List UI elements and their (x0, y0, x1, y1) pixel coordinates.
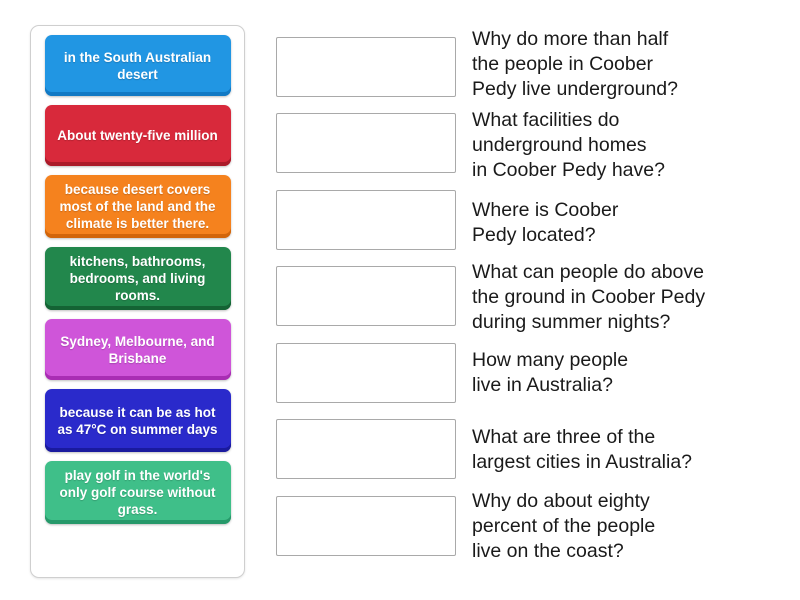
answer-tile[interactable]: in the South Australian desert (45, 35, 231, 96)
drop-zone[interactable] (276, 113, 456, 173)
drop-zone[interactable] (276, 37, 456, 97)
question-text: How many people live in Australia? (472, 348, 794, 398)
answer-tile[interactable]: kitchens, bathrooms, bedrooms, and livin… (45, 247, 231, 310)
question-text: What facilities do underground homes in … (472, 108, 794, 183)
drop-zone[interactable] (276, 266, 456, 326)
question-text: Where is Coober Pedy located? (472, 198, 794, 248)
drop-zone[interactable] (276, 496, 456, 556)
answer-tile-tray: in the South Australian desertAbout twen… (30, 25, 245, 578)
question-text: What can people do above the ground in C… (472, 260, 794, 335)
answer-tile[interactable]: because desert covers most of the land a… (45, 175, 231, 238)
drop-zone[interactable] (276, 419, 456, 479)
question-text: What are three of the largest cities in … (472, 425, 794, 475)
answer-tile[interactable]: because it can be as hot as 47°C on summ… (45, 389, 231, 452)
drop-zone[interactable] (276, 343, 456, 403)
answer-tile[interactable]: play golf in the world's only golf cours… (45, 461, 231, 524)
question-text: Why do about eighty percent of the peopl… (472, 489, 794, 564)
answer-tile[interactable]: About twenty-five million (45, 105, 231, 166)
drop-zone[interactable] (276, 190, 456, 250)
question-text: Why do more than half the people in Coob… (472, 27, 794, 102)
answer-tile[interactable]: Sydney, Melbourne, and Brisbane (45, 319, 231, 380)
match-up-activity: in the South Australian desertAbout twen… (0, 0, 800, 600)
